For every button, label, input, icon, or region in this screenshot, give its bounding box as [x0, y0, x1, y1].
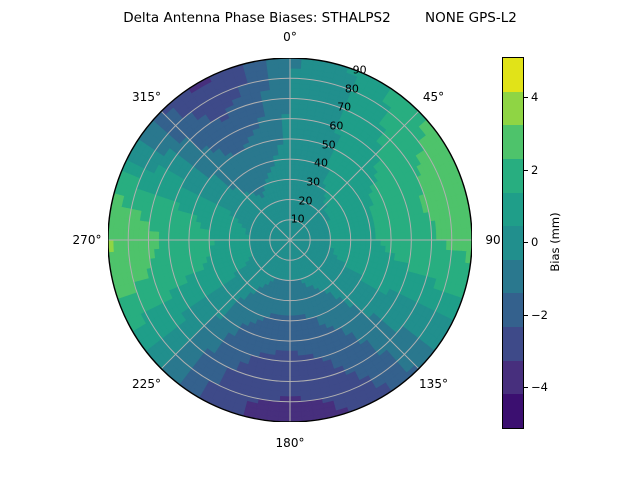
contour-cell — [279, 396, 290, 401]
contour-cell — [421, 240, 426, 249]
contour-cell — [199, 246, 205, 252]
contour-cell — [284, 321, 290, 326]
contour-cell — [406, 232, 411, 240]
contour-cell — [283, 346, 290, 351]
azimuth-tick-label: 45° — [423, 90, 444, 104]
polar-axes — [108, 58, 472, 422]
azimuth-tick-label: 0° — [283, 30, 297, 44]
contour-cell — [290, 326, 296, 331]
contour-cell — [286, 179, 290, 184]
contour-cell — [280, 391, 290, 396]
contour-cell — [179, 240, 184, 247]
zenith-tick-label: 70 — [337, 101, 351, 114]
contour-cell — [282, 124, 290, 129]
colorbar-band — [503, 260, 523, 294]
azimuth-tick-label: 135° — [419, 377, 448, 391]
contour-cell — [391, 233, 396, 240]
contour-cell — [113, 240, 118, 252]
contour-cell — [411, 240, 416, 248]
contour-cell — [174, 240, 179, 248]
contour-cell — [199, 240, 204, 246]
contour-cell — [290, 109, 299, 114]
contour-cell — [290, 321, 296, 326]
colorbar-band — [503, 361, 523, 395]
contour-cell — [169, 232, 174, 240]
colorbar-tick-mark — [524, 387, 528, 388]
contour-cell — [381, 234, 386, 240]
contour-cell — [143, 240, 148, 250]
contour-cell — [284, 154, 290, 159]
contour-cell — [361, 240, 366, 245]
polar-bias-figure: Delta Antenna Phase Biases: STHALPS2 NON… — [0, 0, 640, 480]
contour-cell — [283, 336, 290, 341]
contour-cell — [113, 228, 118, 240]
colorbar-band — [503, 125, 523, 159]
contour-cell — [290, 295, 294, 300]
contour-cell — [290, 371, 299, 376]
contour-cell — [280, 93, 290, 98]
colorbar-band — [503, 92, 523, 126]
contour-cell — [282, 361, 290, 366]
contour-cell — [286, 174, 290, 179]
contour-cell — [128, 229, 133, 240]
contour-cell — [441, 230, 446, 240]
contour-cell — [209, 240, 214, 245]
contour-cell — [224, 240, 229, 244]
contour-cell — [381, 240, 386, 246]
contour-cell — [290, 336, 297, 341]
colorbar-band — [503, 226, 523, 260]
contour-cell — [290, 149, 296, 154]
contour-cell — [290, 361, 298, 366]
contour-cell — [174, 232, 179, 240]
contour-cell — [446, 229, 451, 240]
contour-cell — [290, 396, 301, 401]
contour-cell — [391, 240, 396, 247]
contour-cell — [278, 325, 284, 331]
contour-cell — [118, 229, 123, 240]
contour-cell — [284, 144, 290, 149]
contour-cell — [295, 310, 300, 316]
contour-cell — [189, 233, 194, 240]
contour-cell — [281, 366, 290, 371]
contour-cell — [286, 301, 290, 306]
contour-cell — [118, 240, 123, 251]
contour-cell — [296, 325, 302, 331]
contour-cell — [204, 234, 209, 240]
contour-cell — [143, 230, 148, 240]
contour-cell — [290, 139, 297, 144]
contour-cell — [209, 235, 214, 240]
contour-cell — [214, 245, 220, 250]
contour-cell — [366, 235, 371, 240]
contour-cell — [396, 233, 401, 240]
contour-cell — [294, 305, 299, 310]
contour-cell — [441, 240, 446, 250]
zenith-tick-label: 60 — [329, 119, 343, 132]
colorbar-band — [503, 327, 523, 361]
contour-cell — [431, 240, 436, 250]
contour-cell — [371, 240, 376, 246]
contour-cell — [290, 366, 299, 371]
contour-cell — [219, 244, 224, 249]
colorbar-band — [503, 159, 523, 193]
contour-cell — [189, 240, 194, 247]
contour-cell — [280, 164, 285, 170]
contour-cell — [285, 306, 290, 311]
contour-cell — [199, 228, 205, 234]
contour-cell — [290, 412, 302, 417]
page-title: Delta Antenna Phase Biases: STHALPS2 NON… — [0, 10, 640, 26]
contour-cell — [290, 169, 295, 174]
contour-cell — [159, 240, 164, 249]
colorbar — [502, 57, 524, 429]
zenith-tick-label: 90 — [353, 63, 367, 76]
contour-cell — [290, 63, 302, 68]
contour-cell — [280, 381, 290, 386]
zenith-tick-label: 10 — [291, 213, 305, 226]
contour-cell — [283, 341, 290, 346]
contour-cell — [133, 240, 138, 250]
contour-cell — [283, 139, 290, 144]
zenith-tick-label: 30 — [306, 176, 320, 189]
contour-cell — [282, 356, 290, 361]
contour-cell — [386, 240, 391, 247]
contour-cell — [446, 240, 451, 251]
contour-cell — [285, 164, 290, 169]
contour-cell — [436, 240, 441, 250]
contour-cell — [229, 240, 234, 244]
contour-cell — [356, 235, 361, 240]
contour-cell — [285, 169, 290, 174]
contour-cell — [214, 235, 219, 240]
contour-cell — [194, 240, 199, 246]
contour-cell — [421, 231, 426, 240]
contour-cell — [282, 119, 290, 124]
contour-cell — [290, 174, 294, 179]
zenith-tick-label: 20 — [299, 194, 313, 207]
zenith-tick-label: 50 — [322, 138, 336, 151]
contour-cell — [290, 88, 300, 93]
contour-cell — [411, 232, 416, 240]
contour-cell — [283, 129, 290, 134]
contour-cell — [283, 134, 290, 139]
contour-cell — [133, 230, 138, 240]
contour-cell — [290, 93, 300, 98]
contour-cell — [279, 406, 290, 411]
contour-cell — [426, 240, 431, 249]
contour-cell — [416, 240, 421, 249]
zenith-tick-label: 80 — [345, 82, 359, 95]
colorbar-bands — [503, 58, 523, 428]
contour-cell — [290, 83, 300, 88]
contour-cell — [284, 331, 290, 336]
colorbar-tick-mark — [524, 242, 528, 243]
contour-cell — [214, 240, 219, 245]
contour-cell — [456, 229, 461, 240]
contour-cell — [356, 240, 361, 245]
contour-cell — [416, 231, 421, 240]
contour-cell — [386, 233, 391, 240]
contour-cell — [219, 240, 224, 245]
contour-cell — [436, 230, 441, 240]
contour-cell — [431, 230, 436, 240]
contour-cell — [281, 104, 290, 109]
contour-cell — [361, 235, 366, 240]
contour-cell — [290, 68, 301, 73]
contour-cell — [280, 386, 290, 391]
contour-cell — [375, 246, 381, 252]
contour-cell — [290, 311, 295, 316]
contour-cell — [355, 231, 360, 236]
azimuth-tick-label: 180° — [276, 436, 305, 450]
contour-cell — [204, 240, 209, 246]
contour-cell — [290, 316, 295, 321]
contour-cell — [285, 316, 290, 321]
contour-cell — [164, 232, 169, 240]
contour-cell — [290, 164, 295, 169]
contour-cell — [285, 311, 290, 316]
contour-cell — [219, 235, 224, 240]
contour-cell — [296, 149, 302, 155]
contour-cell — [290, 119, 298, 124]
polar-gridlines — [108, 58, 472, 422]
contour-cell — [376, 234, 381, 240]
contour-cell — [284, 149, 290, 154]
colorbar-band — [503, 58, 523, 92]
contour-cell — [290, 159, 295, 164]
contour-cell — [128, 240, 133, 251]
contour-cell — [285, 159, 290, 164]
contour-cell — [224, 236, 229, 240]
colorbar-tick-mark — [524, 170, 528, 171]
contour-cell — [290, 331, 296, 336]
contour-cell — [281, 376, 290, 381]
colorbar-title: Bias (mm) — [548, 212, 562, 271]
contour-cell — [376, 240, 381, 246]
contour-cell — [290, 346, 297, 351]
azimuth-tick-label: 270° — [73, 233, 102, 247]
contour-cell — [278, 412, 290, 417]
contour-cell — [406, 240, 411, 248]
contour-cell — [290, 356, 298, 361]
contour-cell — [279, 68, 290, 73]
contour-cell — [401, 232, 406, 240]
contour-cell — [286, 184, 290, 189]
contour-cell — [290, 144, 296, 149]
contour-cell — [426, 231, 431, 240]
contour-cell — [290, 341, 297, 346]
contour-cell — [345, 236, 350, 240]
contour-cell — [179, 233, 184, 240]
colorbar-tick-label: 0 — [531, 235, 538, 249]
contour-cell — [290, 351, 298, 356]
colorbar-tick-label: 2 — [531, 163, 538, 177]
contour-cell — [290, 391, 300, 396]
contour-cell — [278, 149, 284, 155]
contour-cell — [371, 234, 376, 240]
contour-cell — [290, 124, 298, 129]
contour-cell — [290, 301, 294, 306]
contour-cell — [351, 240, 356, 244]
contour-cell — [462, 240, 467, 252]
contour-cell — [282, 114, 290, 119]
contour-cell — [169, 240, 174, 248]
colorbar-band — [503, 293, 523, 327]
colorbar-tick-label: −2 — [531, 308, 548, 322]
contour-cell — [284, 326, 290, 331]
contour-cell — [456, 240, 461, 251]
contour-cell — [290, 78, 301, 83]
contour-cell — [290, 129, 297, 134]
colorbar-band — [503, 193, 523, 227]
polar-plot-canvas — [108, 58, 472, 422]
contour-cell — [290, 381, 300, 386]
azimuth-tick-label: 90 — [485, 233, 500, 247]
colorbar-tick-label: −4 — [531, 380, 548, 394]
contour-cell — [281, 169, 286, 174]
contour-cell — [366, 240, 371, 245]
colorbar-tick-label: 4 — [531, 90, 538, 104]
contour-cell — [401, 240, 406, 248]
contour-cell — [351, 236, 356, 240]
contour-cell — [184, 233, 189, 240]
azimuth-tick-label: 225° — [132, 377, 161, 391]
contour-cell — [360, 230, 366, 235]
contour-cell — [184, 240, 189, 247]
colorbar-tick-mark — [524, 97, 528, 98]
zenith-tick-label: 40 — [314, 157, 328, 170]
contour-cell — [375, 228, 381, 234]
contour-cell — [290, 386, 300, 391]
contour-cell — [154, 231, 159, 240]
azimuth-tick-label: 315° — [132, 90, 161, 104]
contour-cell — [282, 351, 290, 356]
contour-cell — [280, 83, 290, 88]
contour-cell — [281, 98, 290, 103]
contour-cell — [234, 240, 239, 244]
contour-cell — [138, 240, 143, 250]
contour-cell — [290, 306, 295, 311]
contour-cell — [194, 234, 199, 240]
contour-cell — [148, 240, 153, 249]
colorbar-band — [503, 394, 523, 428]
contour-cell — [290, 104, 299, 109]
contour-cell — [154, 240, 159, 249]
contour-cell — [396, 240, 401, 247]
contour-cell — [199, 234, 204, 240]
contour-cell — [148, 231, 153, 240]
contour-cell — [278, 63, 290, 68]
contour-cell — [340, 236, 345, 240]
contour-cell — [159, 231, 164, 240]
contour-cell — [281, 371, 290, 376]
contour-cell — [290, 98, 299, 103]
contour-cell — [279, 78, 290, 83]
contour-cell — [290, 290, 294, 295]
contour-cell — [290, 154, 296, 159]
contour-cell — [462, 228, 467, 240]
contour-cell — [281, 109, 290, 114]
contour-cell — [290, 376, 299, 381]
contour-cell — [138, 230, 143, 240]
colorbar-tick-mark — [524, 315, 528, 316]
contour-cell — [290, 114, 298, 119]
contour-cell — [290, 406, 301, 411]
contour-cell — [280, 88, 290, 93]
contour-cell — [290, 134, 297, 139]
contour-cell — [164, 240, 169, 248]
